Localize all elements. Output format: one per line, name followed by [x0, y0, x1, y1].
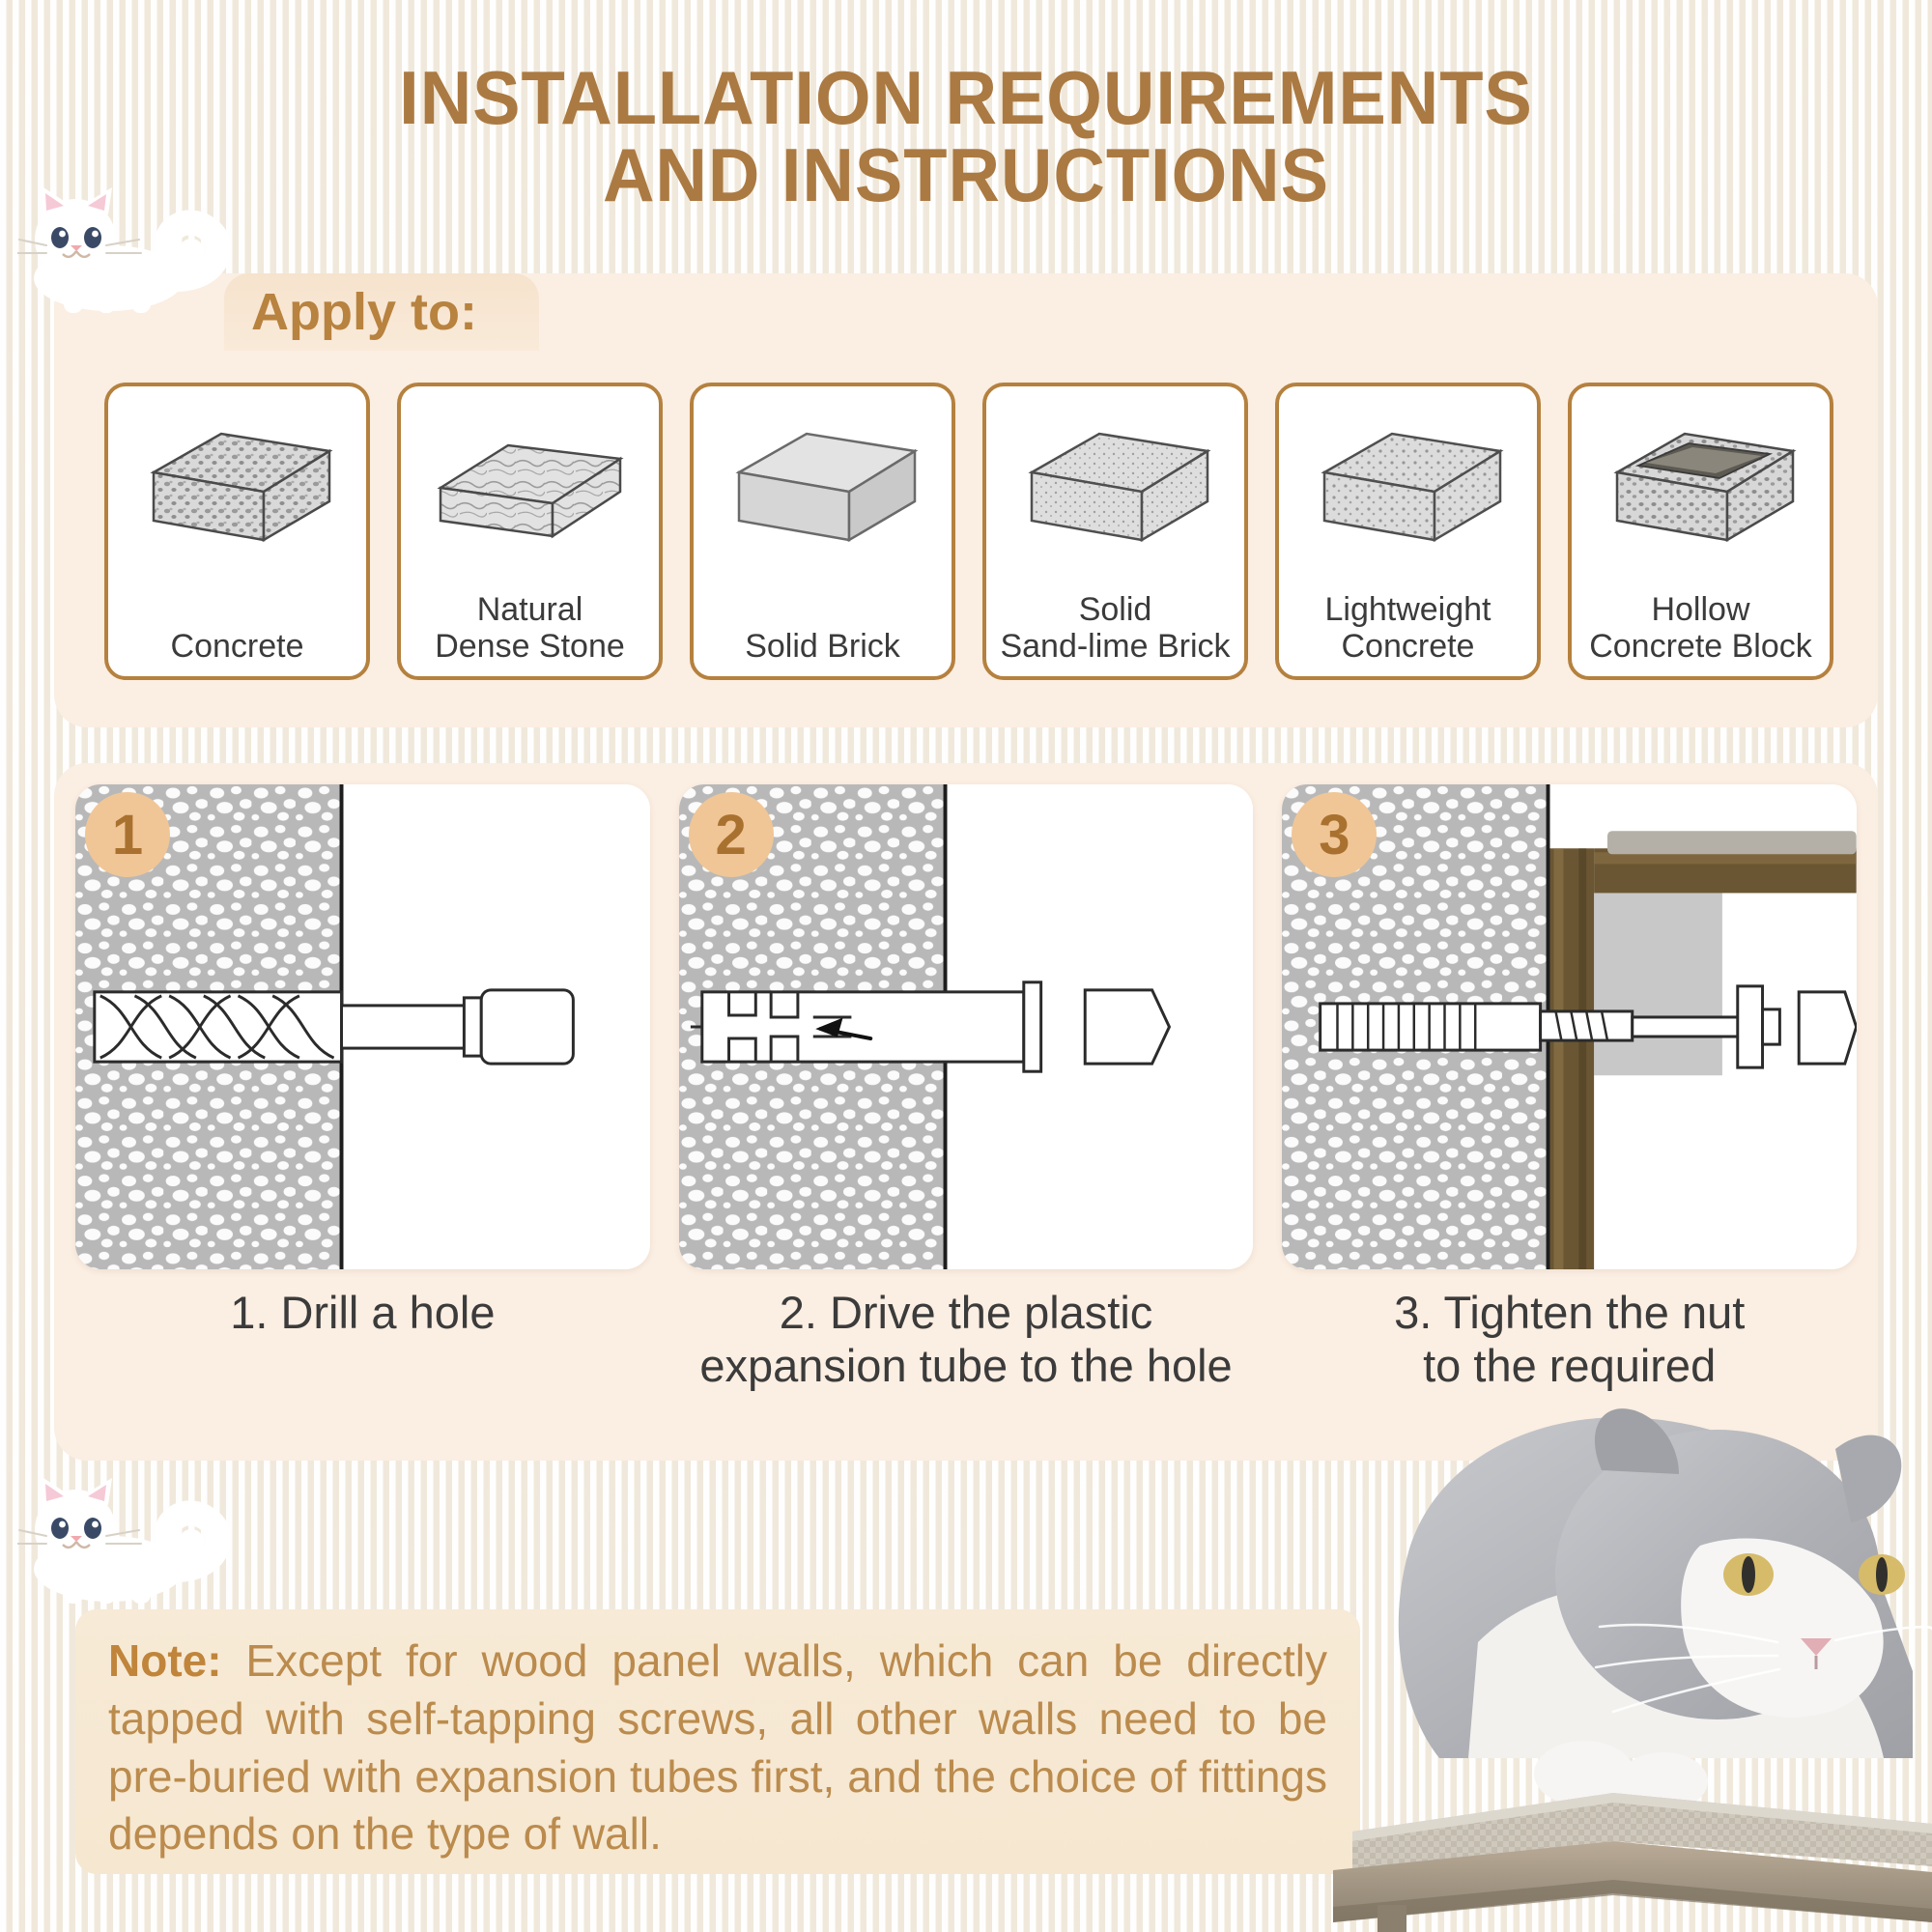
step-number-badge-3: 3 [1292, 792, 1377, 877]
step-illustration-list: 1 [75, 784, 1857, 1269]
step-caption-3: 3. Tighten the nut to the required [1282, 1277, 1857, 1441]
step-caption-2: 2. Drive the plastic expansion tube to t… [679, 1277, 1254, 1441]
hollow-concrete-block-icon [1572, 408, 1830, 562]
material-card-list: Concrete Natural Den [104, 383, 1833, 680]
solid-brick-icon [694, 408, 952, 562]
step-caption-list: 1. Drill a hole 2. Drive the plastic exp… [75, 1277, 1857, 1441]
page-title: INSTALLATION REQUIREMENTS AND INSTRUCTIO… [0, 60, 1932, 213]
lightweight-concrete-icon [1279, 408, 1537, 562]
note-label: Note: [108, 1635, 222, 1686]
note-box: Note: Except for wood panel walls, which… [75, 1609, 1360, 1874]
step-card-3[interactable]: 3 [1282, 784, 1857, 1269]
concrete-block-icon [108, 408, 366, 562]
sand-lime-brick-icon [986, 408, 1244, 562]
material-card-hollow-concrete-block[interactable]: Hollow Concrete Block [1568, 383, 1833, 680]
material-card-lightweight-concrete[interactable]: Lightweight Concrete [1275, 383, 1541, 680]
step-card-2[interactable]: 2 [679, 784, 1254, 1269]
step-number-badge-1: 1 [85, 792, 170, 877]
natural-stone-icon [401, 408, 659, 562]
white-cat-cartoon-bottom [17, 1476, 240, 1611]
note-text: Note: Except for wood panel walls, which… [108, 1633, 1327, 1863]
note-body: Except for wood panel walls, which can b… [108, 1635, 1327, 1859]
page-title-line-1: INSTALLATION REQUIREMENTS [48, 60, 1884, 137]
material-label: Solid Brick [741, 628, 904, 665]
material-label: Solid Sand-lime Brick [996, 591, 1234, 665]
material-card-concrete[interactable]: Concrete [104, 383, 370, 680]
white-cat-cartoon-top [17, 185, 240, 321]
apply-to-label: Apply to: [251, 282, 477, 342]
apply-to-tab: Apply to: [224, 273, 539, 351]
material-card-natural-dense-stone[interactable]: Natural Dense Stone [397, 383, 663, 680]
material-card-solid-brick[interactable]: Solid Brick [690, 383, 955, 680]
material-label: Concrete [167, 628, 308, 665]
step-card-1[interactable]: 1 [75, 784, 650, 1269]
page-title-line-2: AND INSTRUCTIONS [48, 137, 1884, 214]
material-label: Natural Dense Stone [431, 591, 629, 665]
material-label: Hollow Concrete Block [1585, 591, 1816, 665]
material-label: Lightweight Concrete [1321, 591, 1494, 665]
infographic-page: INSTALLATION REQUIREMENTS AND INSTRUCTIO… [0, 0, 1932, 1932]
step-caption-1: 1. Drill a hole [75, 1277, 650, 1441]
step-number-badge-2: 2 [689, 792, 774, 877]
material-card-sand-lime-brick[interactable]: Solid Sand-lime Brick [982, 383, 1248, 680]
